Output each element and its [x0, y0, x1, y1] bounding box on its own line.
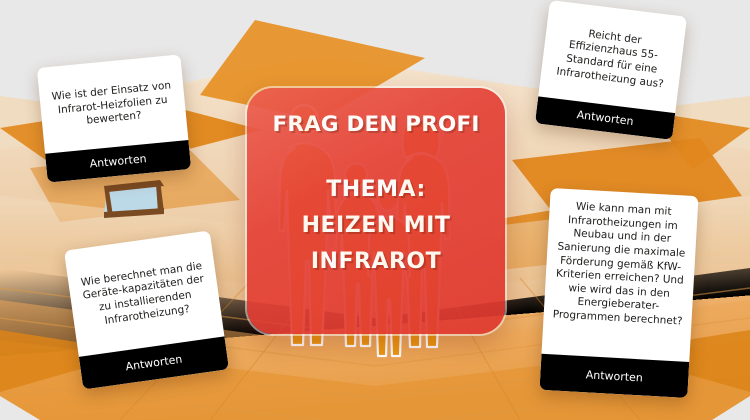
hero-title: FRAG DEN PROFI [272, 114, 479, 137]
poster-stage: FRAG DEN PROFI THEMA: HEIZEN MIT INFRARO… [0, 0, 750, 420]
window-shape [104, 180, 164, 218]
question-card-bottom-right[interactable]: Wie kann man mit Infrarotheizungen im Ne… [539, 188, 698, 398]
question-text: Wie berechnet man die Geräte-kapazitäten… [64, 230, 224, 356]
question-text: Reicht der Effizienzhaus 55-Standard für… [538, 0, 687, 113]
question-card-bottom-left[interactable]: Wie berechnet man die Geräte-kapazitäten… [64, 230, 229, 389]
hero-subtitle-line-1: HEIZEN MIT [302, 214, 451, 237]
question-card-top-left[interactable]: Wie ist der Einsatz von Infrarot-Heizfol… [37, 54, 191, 182]
question-text: Wie ist der Einsatz von Infrarot-Heizfol… [37, 54, 189, 153]
hero-card: FRAG DEN PROFI THEMA: HEIZEN MIT INFRARO… [247, 88, 505, 334]
question-text: Wie kann man mit Infrarotheizungen im Ne… [541, 188, 698, 362]
hero-subtitle-line-2: INFRAROT [311, 250, 441, 273]
question-card-top-right[interactable]: Reicht der Effizienzhaus 55-Standard für… [535, 0, 687, 140]
hero-subtitle-label: THEMA: [326, 178, 426, 201]
